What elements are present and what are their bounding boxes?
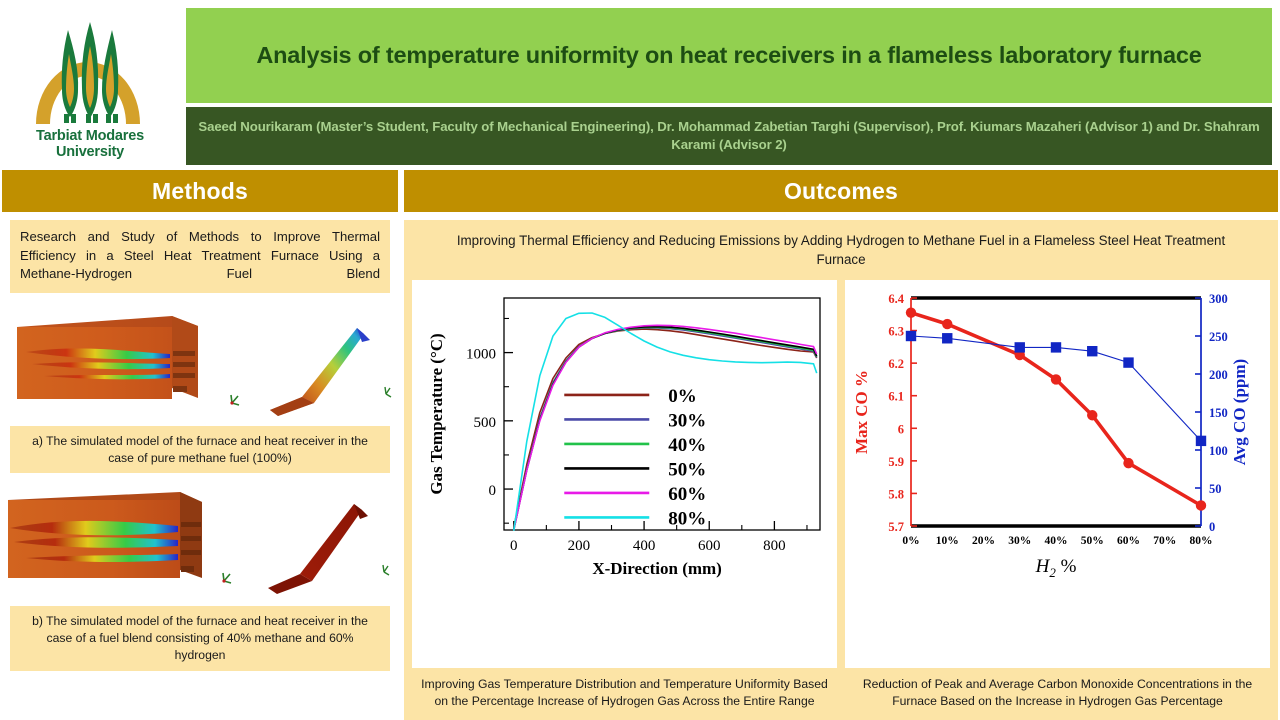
svg-text:70%: 70% [1153,535,1176,547]
outcomes-column: Improving Thermal Efficiency and Reducin… [404,220,1278,720]
svg-text:X-Direction (mm): X-Direction (mm) [592,559,722,578]
poster-title: Analysis of temperature uniformity on he… [256,41,1201,70]
svg-text:0%: 0% [902,535,919,547]
svg-text:40%: 40% [1045,535,1068,547]
svg-text:40%: 40% [668,435,706,456]
svg-text:150: 150 [1209,406,1228,420]
svg-text:80%: 80% [1190,535,1213,547]
logo-line-2: University [36,145,144,160]
svg-text:500: 500 [474,415,497,431]
svg-text:5.9: 5.9 [888,455,904,469]
svg-text:50%: 50% [1081,535,1104,547]
gas-temperature-plot: 050010000200400600800X-Direction (mm)Gas… [416,284,830,584]
svg-text:50%: 50% [668,459,706,480]
svg-text:60%: 60% [1117,535,1140,547]
svg-text:50: 50 [1209,482,1222,496]
svg-text:0%: 0% [668,386,697,407]
svg-text:0: 0 [1209,520,1215,534]
axis-triad-icon-4 [383,565,389,575]
svg-text:200: 200 [1209,368,1228,382]
svg-text:6.2: 6.2 [888,357,904,371]
svg-text:30%: 30% [668,410,706,431]
svg-text:H2 %: H2 % [1035,556,1077,580]
svg-text:250: 250 [1209,330,1228,344]
svg-text:200: 200 [568,538,591,554]
poster-header: Tarbiat Modares University Analysis of t… [0,0,1280,170]
methods-figure-a [2,302,398,420]
section-label-methods: Methods [152,178,248,205]
svg-text:5.8: 5.8 [888,487,904,501]
chart-co-emissions: 5.75.85.966.16.26.36.4050100150200250300… [845,280,1270,668]
methods-caption-a: a) The simulated model of the furnace an… [10,426,390,474]
authors-list: Saeed Nourikaram (Master’s Student, Facu… [196,118,1262,154]
logo-line-1: Tarbiat Modares [36,129,144,144]
methods-column: Research and Study of Methods to Improve… [2,212,398,720]
svg-text:80%: 80% [668,508,706,529]
svg-text:400: 400 [633,538,656,554]
section-label-outcomes: Outcomes [784,178,898,205]
axis-triad-icon-3 [222,573,231,583]
svg-text:300: 300 [1209,292,1228,306]
chart-caption-co-emissions: Reduction of Peak and Average Carbon Mon… [845,668,1270,712]
svg-text:60%: 60% [668,484,706,505]
svg-text:Max CO %: Max CO % [852,370,871,454]
section-header-band: Methods Outcomes [0,170,1280,212]
axis-triad-icon-2 [385,387,391,397]
svg-text:600: 600 [698,538,721,554]
svg-text:Gas Temperature (°C): Gas Temperature (°C) [427,333,446,494]
svg-text:5.7: 5.7 [888,520,904,534]
axis-triad-icon [230,395,239,405]
methods-figure-b [2,482,398,600]
svg-text:30%: 30% [1008,535,1031,547]
chart-gas-temperature: 050010000200400600800X-Direction (mm)Gas… [412,280,837,668]
chart-cell-co-emissions: 5.75.85.966.16.26.36.4050100150200250300… [845,280,1270,712]
svg-text:10%: 10% [936,535,959,547]
svg-text:20%: 20% [972,535,995,547]
svg-text:800: 800 [763,538,786,554]
authors-banner: Saeed Nourikaram (Master’s Student, Facu… [186,107,1272,165]
svg-text:0: 0 [489,483,497,499]
svg-text:6: 6 [898,422,904,436]
section-header-outcomes: Outcomes [404,170,1278,212]
header-text-block: Analysis of temperature uniformity on he… [180,0,1280,170]
section-header-methods: Methods [2,170,398,212]
poster-body: Research and Study of Methods to Improve… [0,212,1280,720]
title-banner: Analysis of temperature uniformity on he… [186,8,1272,103]
logo-wordmark: Tarbiat Modares University [36,129,144,159]
svg-text:0: 0 [510,538,518,554]
university-logo: Tarbiat Modares University [0,0,180,170]
svg-text:100: 100 [1209,444,1228,458]
svg-text:1000: 1000 [466,346,496,362]
methods-caption-b: b) The simulated model of the furnace an… [10,606,390,670]
chart-caption-gas-temperature: Improving Gas Temperature Distribution a… [412,668,837,712]
chart-cell-gas-temperature: 050010000200400600800X-Direction (mm)Gas… [412,280,837,712]
outcomes-lead-text: Improving Thermal Efficiency and Reducin… [412,227,1270,280]
svg-text:Avg CO (ppm): Avg CO (ppm) [1230,359,1249,465]
co-emissions-plot: 5.75.85.966.16.26.36.4050100150200250300… [849,284,1263,584]
logo-mark-icon [26,16,154,128]
svg-text:6.3: 6.3 [888,324,904,338]
methods-abstract: Research and Study of Methods to Improve… [10,220,390,293]
svg-text:6.1: 6.1 [888,390,904,404]
svg-text:6.4: 6.4 [888,292,904,306]
charts-row: 050010000200400600800X-Direction (mm)Gas… [412,280,1270,712]
